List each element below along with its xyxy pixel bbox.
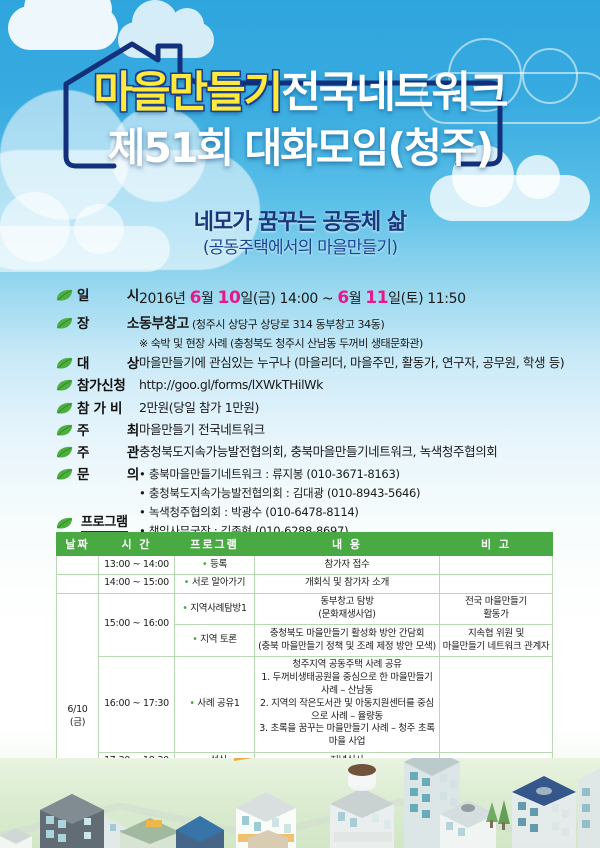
info-row: 주관충청북도지속가능발전협의회, 충북마을만들기네트워크, 녹색청주협의회 (56, 443, 576, 463)
date-text: 일(토) 11:50 (388, 291, 465, 307)
table-header-cell-3: 내 용 (255, 533, 440, 556)
date-number: 10 (218, 288, 241, 308)
info-label-a: 장 (77, 314, 89, 334)
info-label: 주관 (77, 443, 139, 463)
leaf-icon (56, 289, 73, 302)
cityscape-illustration (0, 758, 600, 848)
title-white-text: 전국네트워크 (281, 68, 506, 118)
info-label: 참 가 비 (77, 399, 139, 419)
table-row: 6/10(금)15:00 ~ 16:00지역사례탐방1동부창고 탐방(문화재생사… (57, 593, 553, 625)
info-text: 2만원(당일 참가 1만원) (139, 400, 259, 415)
venue-address: (청주시 상당구 상당로 314 동부창고 34동) (189, 318, 384, 331)
info-text: 마을만들기 전국네트워크 (139, 422, 265, 437)
table-cell-program: 지역사례탐방1 (175, 593, 255, 625)
info-body: 2016년 6월 10일(금) 14:00 ~ 6월 11일(토) 11:50 (139, 286, 576, 312)
info-label-b: 상 (127, 354, 139, 374)
info-row: 일시2016년 6월 10일(금) 14:00 ~ 6월 11일(토) 11:5… (56, 286, 576, 312)
leaf-icon (56, 446, 73, 459)
info-row: 문의• 충북마을만들기네트워크 : 류지봉 (010-3671-8163)• 충… (56, 465, 576, 541)
info-body: 동부창고 (청주시 상당구 상당로 314 동부창고 34동)※ 숙박 및 현장… (139, 314, 576, 353)
info-text: 마을만들기에 관심있는 누구나 (마을리더, 마을주민, 활동가, 연구자, 공… (139, 355, 564, 370)
info-label: 장소 (77, 314, 139, 334)
table-header-cell-2: 프로그램 (175, 533, 255, 556)
page-title-line1: 마을만들기전국네트워크 (0, 72, 600, 115)
table-cell-program: 사례 공유1 (175, 656, 255, 752)
info-label: 대상 (77, 354, 139, 374)
leaf-icon (56, 379, 73, 392)
info-label-b: 관 (127, 443, 139, 463)
program-heading-label: 프로그램 (81, 511, 128, 532)
leaf-icon (56, 424, 73, 437)
table-cell-program: 지역 토론 (175, 625, 255, 657)
cloud-icon (118, 22, 214, 58)
contact-item: • 녹색청주협의회 : 박광수 (010-6478-8114) (139, 503, 576, 522)
table-cell-time: 15:00 ~ 16:00 (99, 593, 175, 656)
table-cell-content: 개회식 및 참가자 소개 (255, 574, 440, 593)
poster-root: 마을만들기전국네트워크 제51회 대화모임(청주) 네모가 꿈꾸는 공동체 삶 … (0, 0, 600, 848)
date-text: 월 (201, 291, 218, 307)
table-cell-time: 13:00 ~ 14:00 (99, 556, 175, 575)
info-body: 충청북도지속가능발전협의회, 충북마을만들기네트워크, 녹색청주협의회 (139, 443, 576, 462)
table-cell-time: 14:00 ~ 15:00 (99, 574, 175, 593)
leaf-icon (56, 517, 73, 530)
info-label-b: 최 (127, 421, 139, 441)
info-row: 참 가 비2만원(당일 참가 1만원) (56, 399, 576, 419)
info-row: 참가신청http://goo.gl/forms/lXWkTHilWk (56, 376, 576, 396)
info-row: 장소동부창고 (청주시 상당구 상당로 314 동부창고 34동)※ 숙박 및 … (56, 314, 576, 353)
table-cell-program: 등록 (175, 556, 255, 575)
table-header-row: 날짜시 간프로그램내 용비 고 (57, 533, 553, 556)
info-label-a: 문 (77, 465, 89, 485)
table-cell-note (440, 656, 553, 752)
info-row: 주최마을만들기 전국네트워크 (56, 421, 576, 441)
leaf-icon (56, 402, 73, 415)
cloud-icon (8, 6, 118, 50)
venue-note: ※ 숙박 및 현장 사례 (충청북도 청주시 산남동 두꺼비 생태문화관) (139, 336, 576, 353)
table-cell-content: 동부창고 탐방(문화재생사업) (255, 593, 440, 625)
leaf-icon (56, 468, 73, 481)
table-row: 13:00 ~ 14:00등록참가자 접수 (57, 556, 553, 575)
info-label-b: 소 (127, 314, 139, 334)
info-list: 일시2016년 6월 10일(금) 14:00 ~ 6월 11일(토) 11:5… (56, 286, 576, 543)
table-cell-program: 서로 알아가기 (175, 574, 255, 593)
program-table-head: 날짜시 간프로그램내 용비 고 (57, 533, 553, 556)
info-label-b: 의 (127, 465, 139, 485)
table-cell-note: 지속협 위원 및마을만들기 네트워크 관계자 (440, 625, 553, 657)
contact-item: • 충청북도지속가능발전협의회 : 김대광 (010-8943-5646) (139, 484, 576, 503)
table-cell-date (57, 574, 99, 593)
info-body: 마을만들기에 관심있는 누구나 (마을리더, 마을주민, 활동가, 연구자, 공… (139, 354, 576, 373)
table-cell-note (440, 574, 553, 593)
date-number: 11 (365, 288, 388, 308)
info-label: 문의 (77, 465, 139, 485)
date-text: 일(금) 14:00 ~ (240, 291, 337, 307)
title-yellow-text: 마을만들기 (93, 68, 281, 118)
info-text: 충청북도지속가능발전협의회, 충북마을만들기네트워크, 녹색청주협의회 (139, 444, 497, 459)
table-cell-time: 16:00 ~ 17:30 (99, 656, 175, 752)
info-label-b: 시 (127, 286, 139, 306)
info-label-a: 일 (77, 286, 89, 306)
table-cell-content: 참가자 접수 (255, 556, 440, 575)
date-number: 6 (190, 288, 201, 308)
date-text: 월 (349, 291, 366, 307)
leaf-icon (56, 357, 73, 370)
subtitle-secondary: (공동주택에서의 마을만들기) (0, 233, 600, 258)
isometric-city-svg (0, 758, 600, 848)
page-title-line2: 제51회 대화모임(청주) (0, 128, 600, 169)
contact-item: • 충북마을만들기네트워크 : 류지봉 (010-3671-8163) (139, 465, 576, 484)
date-text: 2016년 (139, 291, 190, 307)
table-row: 16:00 ~ 17:30사례 공유1청주지역 공동주택 사례 공유1. 두꺼비… (57, 656, 553, 752)
subtitle-primary: 네모가 꿈꾸는 공동체 삶 (0, 204, 600, 236)
registration-url[interactable]: http://goo.gl/forms/lXWkTHilWk (139, 377, 323, 392)
info-body: 2만원(당일 참가 1만원) (139, 399, 576, 418)
info-label-a: 참가신청 (77, 376, 125, 396)
leaf-icon (56, 317, 73, 330)
info-label: 일시 (77, 286, 139, 306)
date-number: 6 (337, 288, 348, 308)
info-label: 참가신청 (77, 376, 139, 396)
table-header-cell-0: 날짜 (57, 533, 99, 556)
info-label-a: 주 (77, 443, 89, 463)
info-body: 마을만들기 전국네트워크 (139, 421, 576, 440)
venue-name: 동부창고 (139, 316, 189, 332)
info-body: • 충북마을만들기네트워크 : 류지봉 (010-3671-8163)• 충청북… (139, 465, 576, 541)
table-header-cell-4: 비 고 (440, 533, 553, 556)
info-label: 주최 (77, 421, 139, 441)
info-label-a: 참 가 비 (77, 399, 122, 419)
program-heading: 프로그램 (56, 511, 128, 532)
table-cell-date (57, 556, 99, 575)
info-label-a: 주 (77, 421, 89, 441)
table-cell-note: 전국 마을만들기활동가 (440, 593, 553, 625)
table-cell-content: 청주지역 공동주택 사례 공유1. 두꺼비생태공원을 중심으로 한 마을만들기 … (255, 656, 440, 752)
table-cell-content: 충청북도 마을만들기 활성화 방안 간담회(충북 마을만들기 정책 및 조례 제… (255, 625, 440, 657)
table-row: 14:00 ~ 15:00서로 알아가기개회식 및 참가자 소개 (57, 574, 553, 593)
info-body: http://goo.gl/forms/lXWkTHilWk (139, 376, 576, 395)
table-cell-note (440, 556, 553, 575)
info-label-a: 대 (77, 354, 89, 374)
table-header-cell-1: 시 간 (99, 533, 175, 556)
info-row: 대상마을만들기에 관심있는 누구나 (마을리더, 마을주민, 활동가, 연구자,… (56, 354, 576, 374)
